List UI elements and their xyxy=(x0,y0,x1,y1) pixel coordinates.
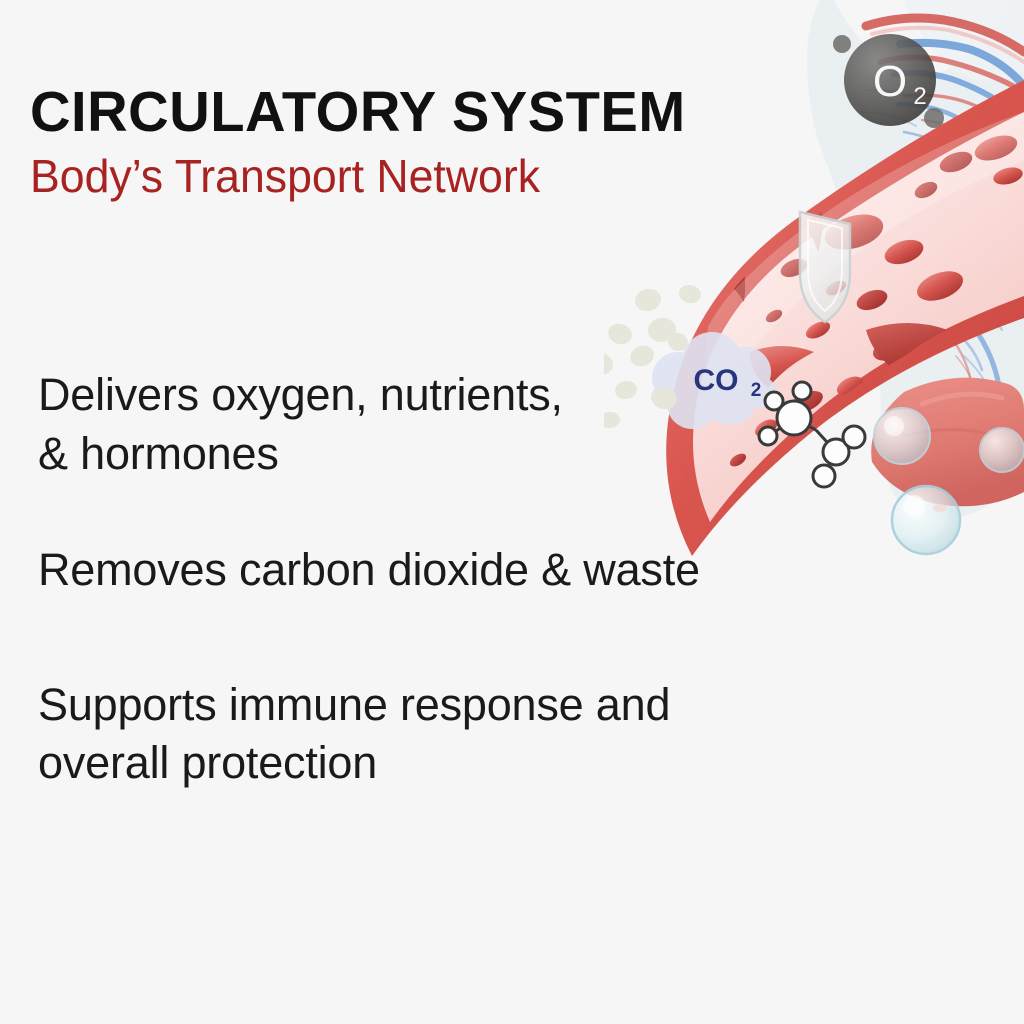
point-line: Removes carbon dioxide & waste xyxy=(38,541,878,600)
point-line: Supports immune response and xyxy=(38,676,878,735)
artery-branch-network xyxy=(866,18,1024,414)
plasma-bubbles xyxy=(874,408,1024,554)
list-item: Delivers oxygen, nutrients, & hormones xyxy=(38,366,878,483)
point-line: Delivers oxygen, nutrients, xyxy=(38,366,878,425)
key-points-list: Delivers oxygen, nutrients, & hormones R… xyxy=(38,366,878,793)
point-line: & hormones xyxy=(38,425,878,484)
title-block: CIRCULATORY SYSTEM Body’s Transport Netw… xyxy=(30,84,790,203)
vein-branch-network xyxy=(860,43,1024,410)
oxygen-molecule-badge: O 2 xyxy=(833,34,944,128)
page-title: CIRCULATORY SYSTEM xyxy=(30,84,779,141)
oxygen-badge-label: O xyxy=(873,57,907,106)
list-item: Removes carbon dioxide & waste xyxy=(38,541,878,600)
oxygen-badge-subscript: 2 xyxy=(913,83,926,110)
immune-shield-icon xyxy=(800,212,850,322)
list-item: Supports immune response and overall pro… xyxy=(38,676,878,793)
page-subtitle: Body’s Transport Network xyxy=(30,151,767,203)
infographic-poster: O 2 xyxy=(0,0,1024,1024)
point-line: overall protection xyxy=(38,734,878,793)
organ-mass xyxy=(871,378,1024,507)
